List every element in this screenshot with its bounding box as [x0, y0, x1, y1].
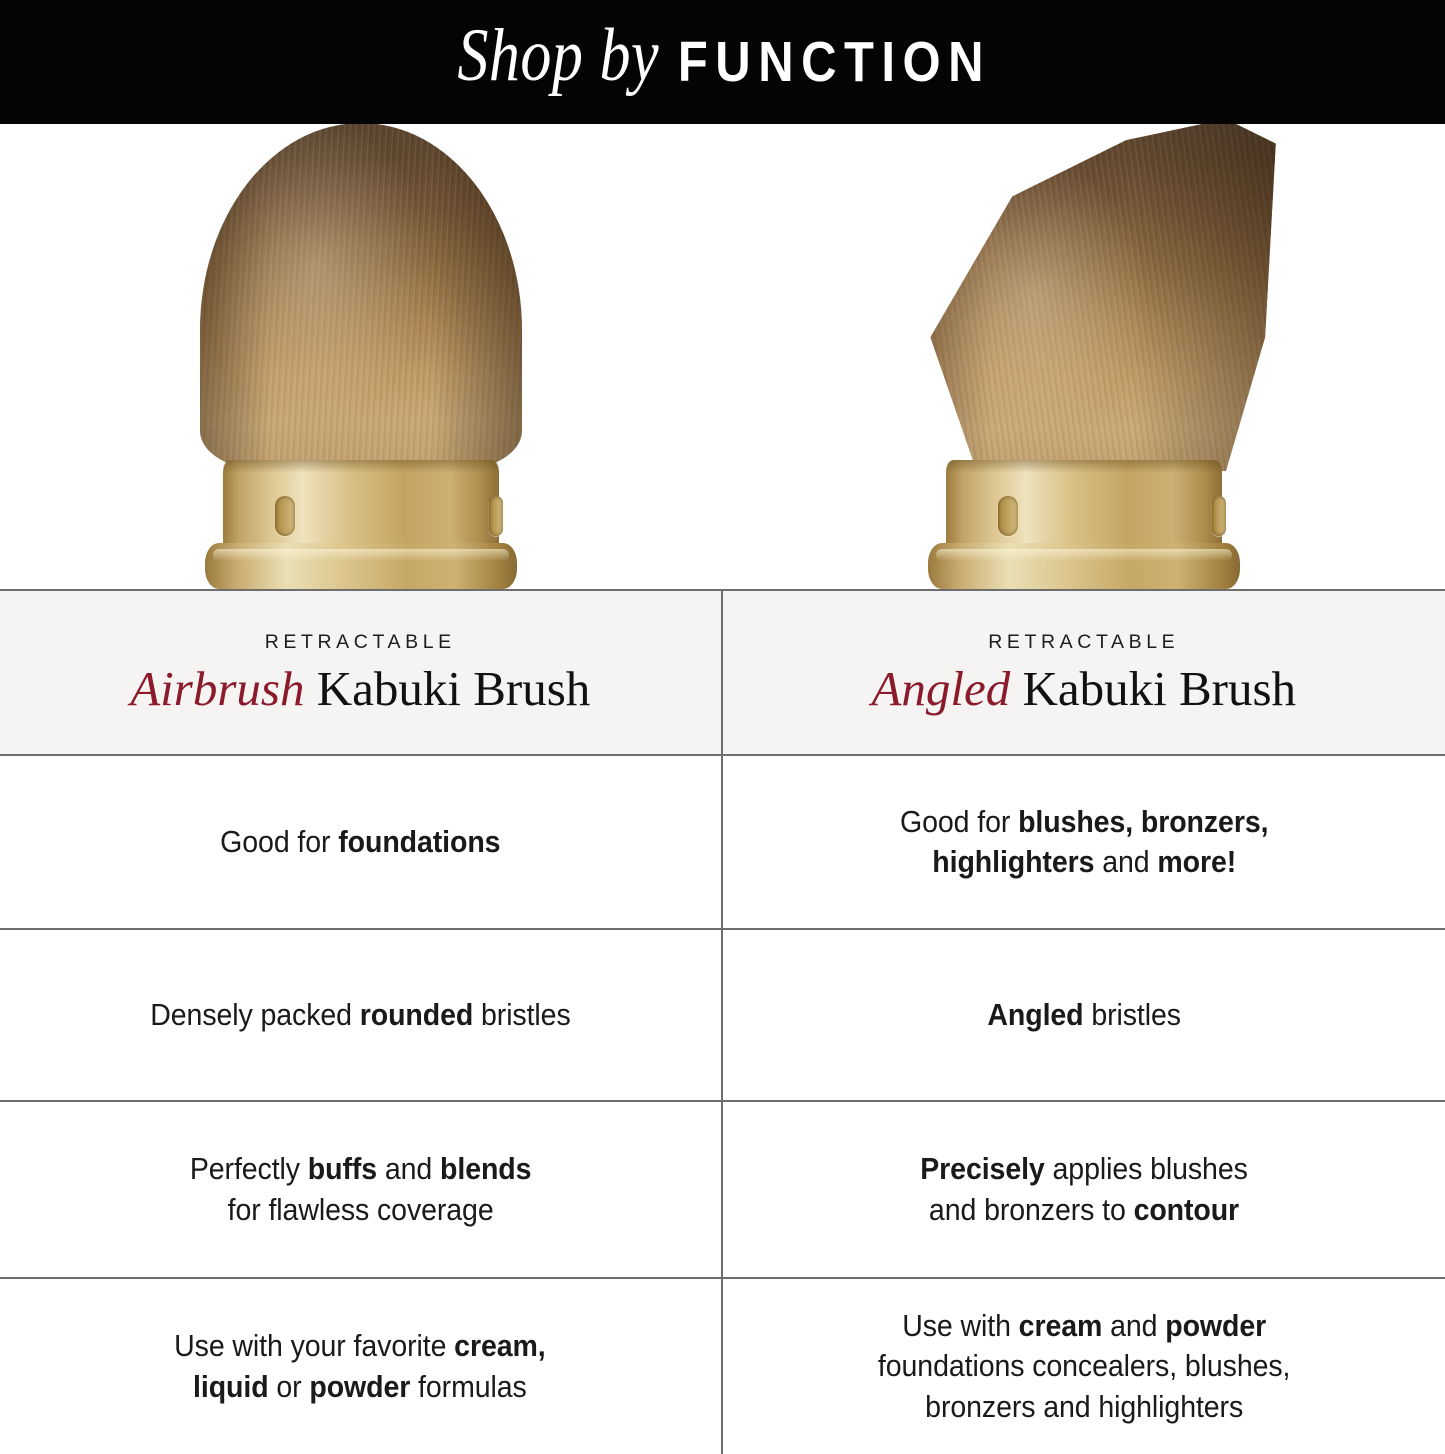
feature-row: Perfectly buffs and blendsfor flawless c…	[0, 1100, 1445, 1277]
product-title-row: RETRACTABLE Airbrush Kabuki Brush RETRAC…	[0, 589, 1445, 754]
feature-row: Good for foundations Good for blushes, b…	[0, 754, 1445, 928]
feature-text: Good for foundations	[220, 822, 500, 862]
page-header-banner: Shop by FUNCTION	[0, 0, 1445, 124]
product-name: Angled Kabuki Brush	[871, 663, 1296, 715]
product-image-airbrush[interactable]	[0, 124, 723, 589]
ferrule-slot-icon	[275, 496, 295, 536]
page-title-script: Shop by	[457, 12, 674, 99]
feature-cell-angled: Precisely applies blushesand bronzers to…	[723, 1102, 1445, 1277]
product-eyebrow: RETRACTABLE	[988, 631, 1179, 654]
product-eyebrow: RETRACTABLE	[265, 631, 456, 654]
comparison-table: RETRACTABLE Airbrush Kabuki Brush RETRAC…	[0, 589, 1445, 1454]
rounded-dome-kabuki-brush-icon	[0, 124, 722, 589]
feature-text: Use with your favorite cream,liquid or p…	[175, 1326, 546, 1407]
product-comparison-page: Shop by FUNCTION	[0, 0, 1445, 1445]
product-name: Airbrush Kabuki Brush	[130, 663, 590, 715]
ferrule-slot-icon	[998, 496, 1018, 536]
product-name-accent: Angled	[871, 661, 1010, 716]
feature-cell-airbrush: Perfectly buffs and blendsfor flawless c…	[0, 1102, 723, 1277]
feature-text: Densely packed rounded bristles	[150, 995, 570, 1035]
product-name-accent: Airbrush	[130, 661, 304, 716]
product-image-strip	[0, 124, 1445, 589]
product-title-cell-angled[interactable]: RETRACTABLE Angled Kabuki Brush	[723, 591, 1445, 754]
feature-text: Precisely applies blushesand bronzers to…	[920, 1149, 1248, 1230]
product-name-rest: Kabuki Brush	[1010, 661, 1296, 716]
product-name-rest: Kabuki Brush	[304, 661, 590, 716]
ferrule-slot-right-icon	[489, 496, 503, 536]
page-title-emphasis: FUNCTION	[678, 30, 991, 95]
feature-row: Densely packed rounded bristles Angled b…	[0, 928, 1445, 1100]
feature-cell-angled: Good for blushes, bronzers,highlighters …	[723, 756, 1445, 928]
brush-bristles-rounded	[200, 124, 522, 471]
angled-kabuki-brush-icon	[723, 124, 1445, 589]
feature-cell-angled: Use with cream and powderfoundations con…	[723, 1279, 1445, 1454]
feature-cell-airbrush: Densely packed rounded bristles	[0, 930, 723, 1100]
feature-text: Perfectly buffs and blendsfor flawless c…	[189, 1149, 531, 1230]
feature-cell-airbrush: Good for foundations	[0, 756, 723, 928]
page-title: Shop by FUNCTION	[454, 25, 991, 99]
feature-text: Angled bristles	[987, 995, 1181, 1035]
brush-bristles-angled	[920, 124, 1276, 471]
feature-row: Use with your favorite cream,liquid or p…	[0, 1277, 1445, 1454]
brush-base-ring	[205, 543, 517, 589]
brush-base-ring	[928, 543, 1240, 589]
ferrule-slot-right-icon	[1212, 496, 1226, 536]
feature-cell-airbrush: Use with your favorite cream,liquid or p…	[0, 1279, 723, 1454]
product-title-cell-airbrush[interactable]: RETRACTABLE Airbrush Kabuki Brush	[0, 591, 723, 754]
feature-text: Use with cream and powderfoundations con…	[878, 1306, 1290, 1427]
feature-text: Good for blushes, bronzers,highlighters …	[900, 802, 1268, 883]
product-image-angled[interactable]	[723, 124, 1445, 589]
feature-cell-angled: Angled bristles	[723, 930, 1445, 1100]
